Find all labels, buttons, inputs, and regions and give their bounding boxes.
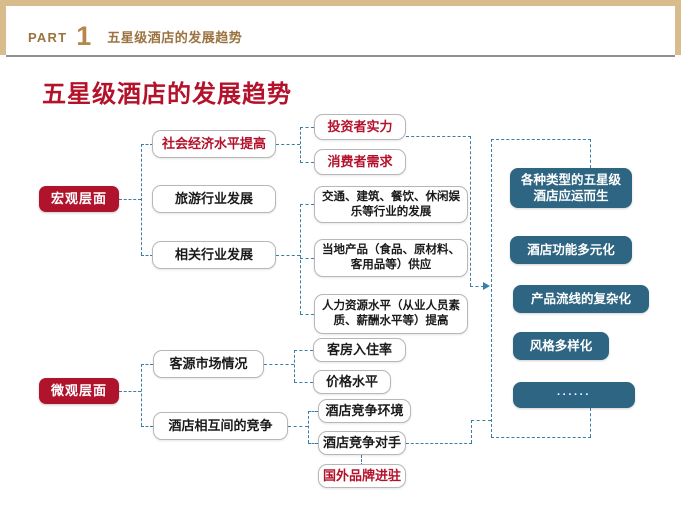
connector-industry-to-product (300, 258, 314, 259)
macro-detail-box-3[interactable]: 交通、建筑、餐饮、休闲娱乐等行业的发展 (314, 186, 468, 223)
micro-factor-label-2: 酒店相互间的竞争 (168, 418, 272, 435)
outcome-box-1[interactable]: 各种类型的五星级酒店应运而生 (510, 168, 632, 208)
micro-detail-label-3: 酒店竞争环境 (325, 403, 403, 420)
outcome-box-3[interactable]: 产品流线的复杂化 (513, 285, 649, 313)
micro-detail-label-5: 国外品牌进驻 (323, 468, 401, 485)
macro-detail-box-1[interactable]: 投资者实力 (314, 114, 406, 140)
outcome-box-4[interactable]: 风格多样化 (513, 332, 609, 360)
micro-detail-box-5[interactable]: 国外品牌进驻 (318, 464, 406, 488)
connector-rival-to-trunk (406, 443, 472, 444)
macro-detail-label-2: 消费者需求 (327, 154, 392, 171)
macro-factor-box-3[interactable]: 相关行业发展 (152, 241, 276, 269)
macro-detail-box-4[interactable]: 当地产品（食品、原材料、客用品等）供应 (314, 239, 468, 277)
macro-factor-label-1: 社会经济水平提高 (162, 136, 266, 153)
connector-outcome-bottom (491, 437, 591, 438)
macro-factor-label-3: 相关行业发展 (175, 247, 253, 264)
connector-econ-bracket (300, 127, 301, 163)
connector-outcome-bottom-rise (590, 408, 591, 437)
part-label: PART (28, 30, 67, 45)
connector-trunk-arrow-line (470, 286, 484, 287)
connector-micro-stem (119, 391, 141, 392)
connector-econ-to-consumer (300, 162, 314, 163)
level-pill-macro[interactable]: 宏观层面 (39, 186, 119, 212)
outcome-box-5[interactable]: ······ (513, 382, 635, 408)
micro-detail-box-4[interactable]: 酒店竞争对手 (318, 431, 406, 455)
macro-detail-label-3: 交通、建筑、餐饮、休闲娱乐等行业的发展 (322, 190, 460, 219)
outcome-label-3: 产品流线的复杂化 (531, 291, 631, 307)
level-pill-micro-label: 微观层面 (51, 383, 107, 400)
connector-econ-to-investor (300, 127, 314, 128)
connector-market-to-occupancy (294, 350, 313, 351)
connector-trunk-top-feed (406, 136, 471, 137)
connector-industry-to-hr (300, 314, 314, 315)
level-pill-micro[interactable]: 微观层面 (39, 378, 119, 404)
connector-bottom-trunk-vertical (471, 420, 472, 443)
connector-macro-bracket (141, 144, 142, 255)
part-number: 1 (76, 23, 91, 50)
header-divider (6, 55, 675, 57)
macro-detail-box-5[interactable]: 人力资源水平（从业人员素质、薪酬水平等）提高 (314, 294, 468, 334)
connector-outcome-top (491, 139, 591, 140)
header-subtitle: 五星级酒店的发展趋势 (107, 27, 242, 46)
connector-market-stem (264, 364, 294, 365)
connector-econ-stem (276, 144, 300, 145)
connector-micro-to-1 (141, 364, 153, 365)
macro-factor-box-1[interactable]: 社会经济水平提高 (152, 130, 276, 158)
micro-detail-label-4: 酒店竞争对手 (323, 435, 401, 452)
micro-detail-box-1[interactable]: 客房入住率 (313, 338, 406, 362)
connector-market-to-price (294, 382, 313, 383)
outcome-label-5: ······ (557, 388, 591, 402)
micro-detail-box-2[interactable]: 价格水平 (313, 370, 391, 394)
macro-detail-box-2[interactable]: 消费者需求 (314, 149, 406, 175)
outcome-label-4: 风格多样化 (530, 338, 593, 354)
slide-header: PART 1 五星级酒店的发展趋势 (0, 0, 681, 55)
micro-detail-box-3[interactable]: 酒店竞争环境 (318, 399, 411, 423)
connector-compete-stem (288, 426, 308, 427)
macro-detail-label-1: 投资者实力 (327, 119, 392, 136)
outcome-label-1: 各种类型的五星级酒店应运而生 (520, 172, 622, 204)
page-title: 五星级酒店的发展趋势 (42, 74, 292, 109)
micro-factor-box-2[interactable]: 酒店相互间的竞争 (153, 412, 288, 440)
micro-factor-label-1: 客源市场情况 (169, 356, 247, 373)
connector-micro-to-2 (141, 426, 153, 427)
macro-detail-label-4: 当地产品（食品、原材料、客用品等）供应 (322, 243, 460, 272)
micro-detail-label-2: 价格水平 (326, 374, 378, 391)
connector-compete-to-rival (308, 443, 318, 444)
connector-micro-bracket (141, 364, 142, 426)
connector-bottom-trunk-join (471, 420, 491, 421)
connector-industry-stem (276, 255, 300, 256)
macro-factor-box-2[interactable]: 旅游行业发展 (152, 185, 276, 213)
macro-factor-label-2: 旅游行业发展 (175, 191, 253, 208)
level-pill-macro-label: 宏观层面 (51, 191, 107, 208)
connector-industry-bracket (300, 204, 301, 314)
micro-detail-label-1: 客房入住率 (327, 342, 392, 359)
connector-macro-stem (119, 199, 141, 200)
macro-detail-label-5: 人力资源水平（从业人员素质、薪酬水平等）提高 (322, 299, 460, 328)
connector-outcome-bracket (491, 139, 492, 437)
connector-trunk-vertical (470, 136, 471, 286)
connector-compete-to-env (308, 411, 318, 412)
connector-market-bracket (294, 350, 295, 382)
connector-arrowhead-icon (483, 282, 490, 290)
connector-compete-bracket (308, 411, 309, 443)
outcome-label-2: 酒店功能多元化 (527, 242, 615, 258)
slide-canvas: PART 1 五星级酒店的发展趋势 五星级酒店的发展趋势 (0, 0, 681, 513)
connector-outcome-top-drop (590, 139, 591, 168)
outcome-box-2[interactable]: 酒店功能多元化 (510, 236, 632, 264)
connector-industry-to-transport (300, 204, 314, 205)
micro-factor-box-1[interactable]: 客源市场情况 (153, 350, 264, 378)
header-content: PART 1 五星级酒店的发展趋势 (28, 20, 242, 47)
